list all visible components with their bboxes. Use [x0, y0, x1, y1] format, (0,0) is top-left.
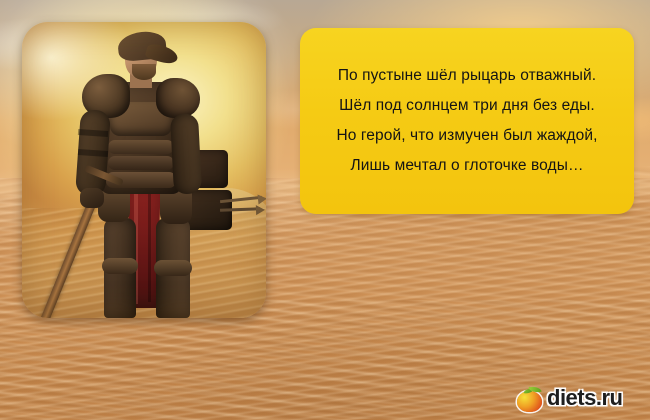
watermark[interactable]: diets.ru — [517, 383, 637, 413]
right-knee-plate — [154, 260, 192, 276]
arrow-tip-upper — [258, 194, 266, 205]
quote-panel: По пустыне шёл рыцарь отважный. Шёл под … — [300, 28, 634, 214]
quote-line-3: Но герой, что измучен был жаждой, — [310, 121, 624, 151]
poster-canvas: По пустыне шёл рыцарь отважный. Шёл под … — [0, 0, 650, 420]
knight-photo-card — [22, 22, 266, 318]
beard — [132, 64, 156, 80]
right-pauldron — [156, 78, 200, 118]
abdomen-plate-2 — [108, 156, 174, 170]
apple-icon — [517, 385, 542, 412]
quote-line-2: Шёл под солнцем три дня без еды. — [310, 91, 624, 121]
knight-figure — [22, 22, 266, 318]
quote-line-1: По пустыне шёл рыцарь отважный. — [310, 61, 624, 91]
apple-body — [517, 391, 542, 412]
watermark-text: diets.ru — [547, 385, 622, 411]
right-arm-armor — [170, 113, 202, 194]
left-knee-plate — [102, 258, 138, 274]
arrow-tip-lower — [256, 205, 265, 215]
tunic-shadow — [148, 186, 151, 302]
arrow-shaft-lower — [220, 207, 260, 211]
quote-line-4: Лишь мечтал о глоточке воды… — [310, 151, 624, 181]
abdomen-plate-1 — [108, 140, 174, 154]
gauntlet-hand — [80, 188, 104, 208]
